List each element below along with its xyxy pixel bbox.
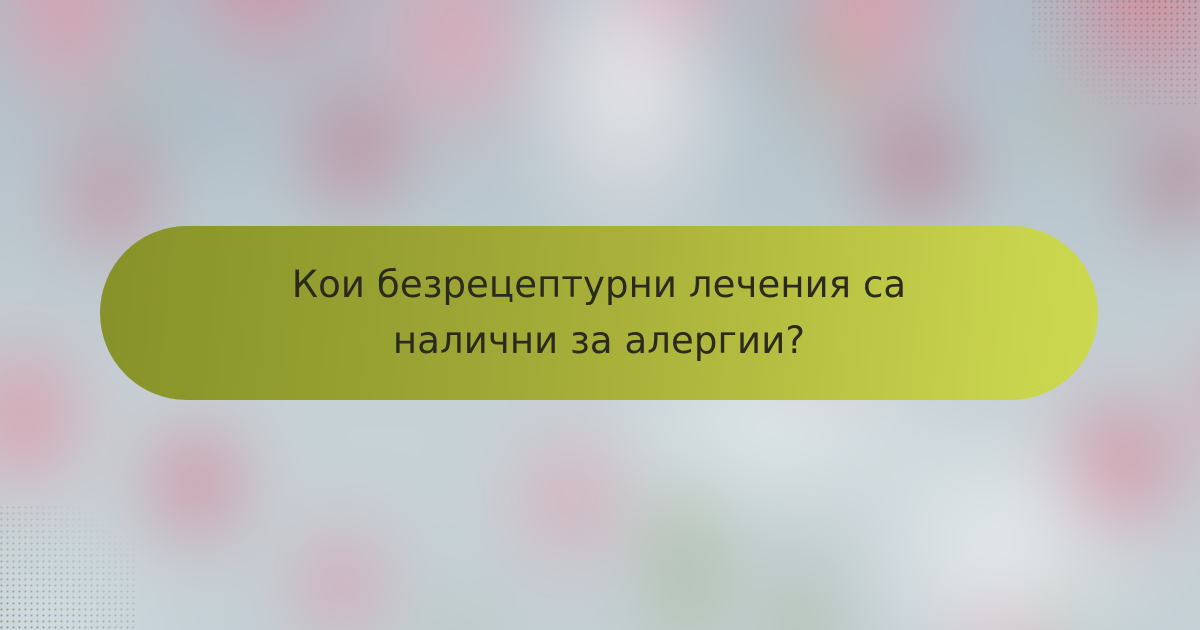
question-text: Кои безрецептурни лечения са налични за … <box>214 257 984 369</box>
poster-canvas: Кои безрецептурни лечения са налични за … <box>0 0 1200 630</box>
question-banner: Кои безрецептурни лечения са налични за … <box>100 226 1098 400</box>
